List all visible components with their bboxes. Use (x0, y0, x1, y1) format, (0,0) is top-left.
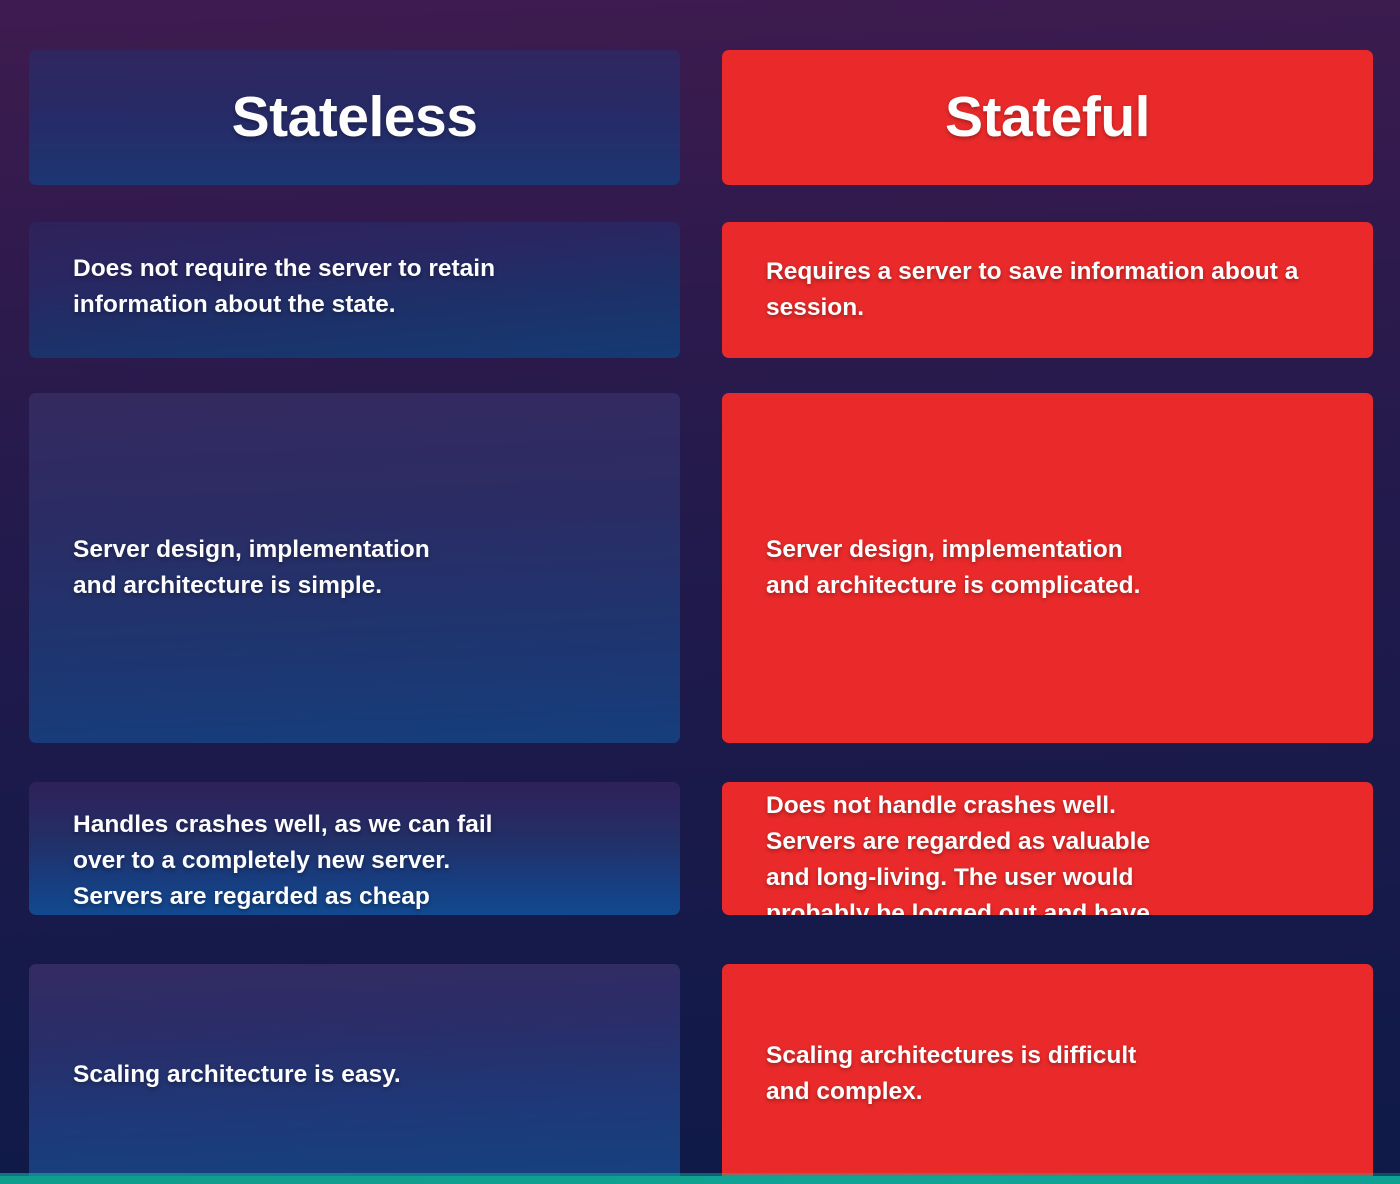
cell-stateful-4: Scaling architectures is difficult and c… (722, 964, 1373, 1183)
cell-stateless-3-text: Handles crashes well, as we can fail ove… (73, 807, 492, 916)
column-header-stateful: Stateful (722, 50, 1373, 185)
comparison-table: Stateless Stateful Does not require the … (0, 0, 1400, 1184)
column-header-stateless: Stateless (29, 50, 680, 185)
cell-stateless-1-text: Does not require the server to retain in… (73, 251, 636, 323)
cell-stateless-4: Scaling architecture is easy. (29, 964, 680, 1183)
bottom-accent-bar (0, 1176, 1400, 1184)
cell-stateful-1-text: Requires a server to save information ab… (766, 254, 1329, 326)
cell-stateful-1: Requires a server to save information ab… (722, 222, 1373, 358)
cell-stateless-1: Does not require the server to retain in… (29, 222, 680, 358)
cell-stateful-4-text: Scaling architectures is difficult and c… (766, 1038, 1329, 1110)
cell-stateful-2: Server design, implementation and archit… (722, 393, 1373, 743)
cell-stateful-3-text: Does not handle crashes well. Servers ar… (766, 788, 1150, 916)
cell-stateful-3: Does not handle crashes well. Servers ar… (722, 782, 1373, 915)
column-header-stateless-label: Stateless (232, 88, 478, 148)
column-header-stateful-label: Stateful (945, 88, 1150, 148)
cell-stateless-4-text: Scaling architecture is easy. (73, 1057, 636, 1093)
cell-stateless-3: Handles crashes well, as we can fail ove… (29, 782, 680, 915)
cell-stateless-2: Server design, implementation and archit… (29, 393, 680, 743)
cell-stateless-2-text: Server design, implementation and archit… (73, 532, 636, 604)
cell-stateful-2-text: Server design, implementation and archit… (766, 532, 1329, 604)
